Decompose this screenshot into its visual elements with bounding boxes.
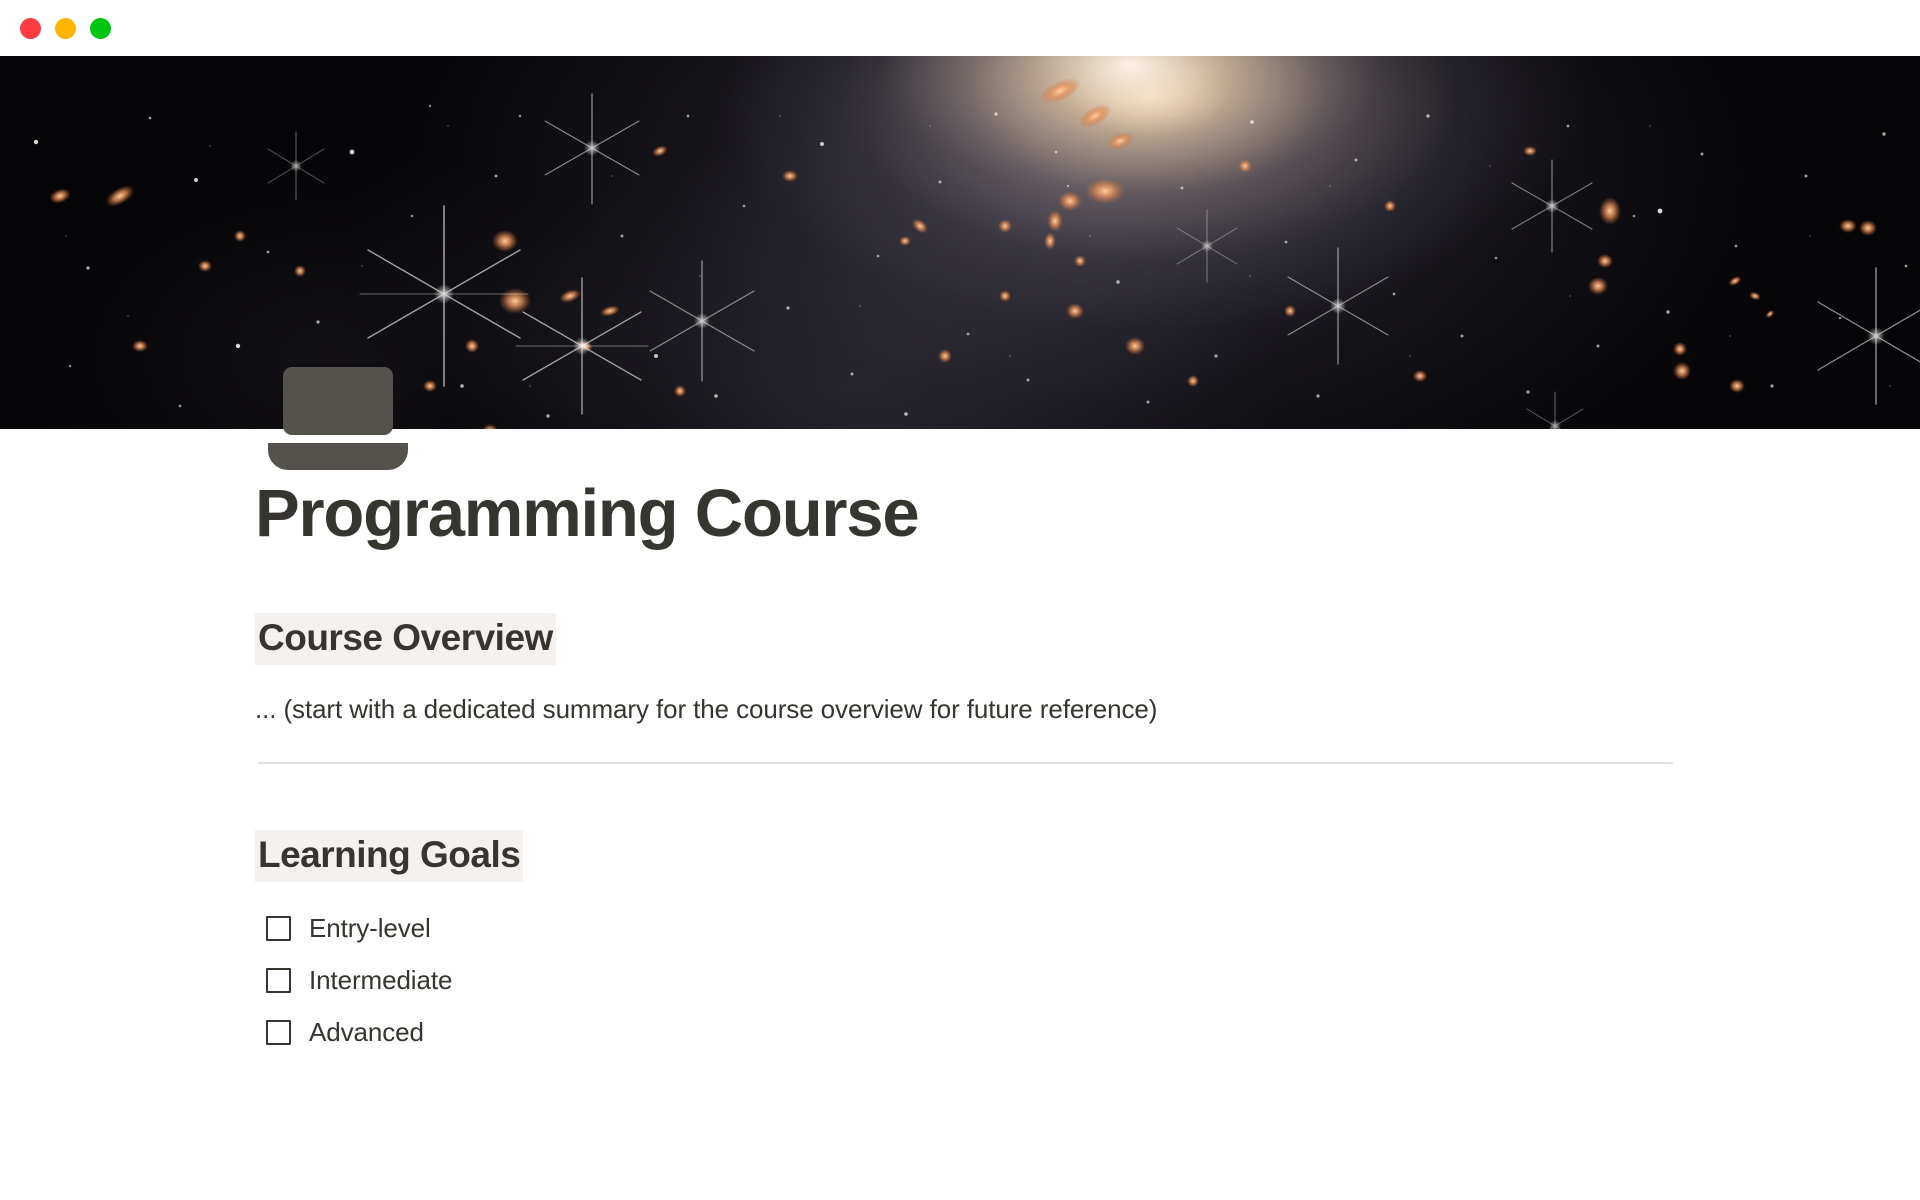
section-course-overview: Course Overview ... (start with a dedica… [255, 613, 1675, 764]
checkbox-advanced[interactable] [266, 1020, 291, 1045]
todo-item-entry-level[interactable]: Entry-level [255, 902, 1675, 954]
maximize-window-button[interactable] [90, 18, 111, 39]
window-titlebar [0, 0, 1920, 56]
close-window-button[interactable] [20, 18, 41, 39]
checkbox-intermediate[interactable] [266, 968, 291, 993]
heading-course-overview[interactable]: Course Overview [255, 613, 556, 665]
todo-label-advanced: Advanced [309, 1017, 424, 1048]
laptop-icon[interactable] [268, 366, 408, 470]
minimize-window-button[interactable] [55, 18, 76, 39]
todo-item-advanced[interactable]: Advanced [255, 1006, 1675, 1058]
todo-label-entry-level: Entry-level [309, 913, 431, 944]
todo-item-intermediate[interactable]: Intermediate [255, 954, 1675, 1006]
todo-label-intermediate: Intermediate [309, 965, 452, 996]
heading-learning-goals[interactable]: Learning Goals [255, 830, 523, 882]
document-body: Programming Course Course Overview ... (… [0, 429, 1920, 1200]
learning-goals-todo-list: Entry-level Intermediate Advanced [255, 882, 1675, 1058]
page-title[interactable]: Programming Course [255, 429, 1675, 551]
course-overview-paragraph[interactable]: ... (start with a dedicated summary for … [255, 665, 1675, 729]
checkbox-entry-level[interactable] [266, 916, 291, 941]
app-window: Programming Course Course Overview ... (… [0, 0, 1920, 1200]
section-learning-goals: Learning Goals Entry-level Intermediate … [255, 830, 1675, 1058]
traffic-light-group [20, 18, 111, 39]
section-divider [258, 762, 1673, 764]
